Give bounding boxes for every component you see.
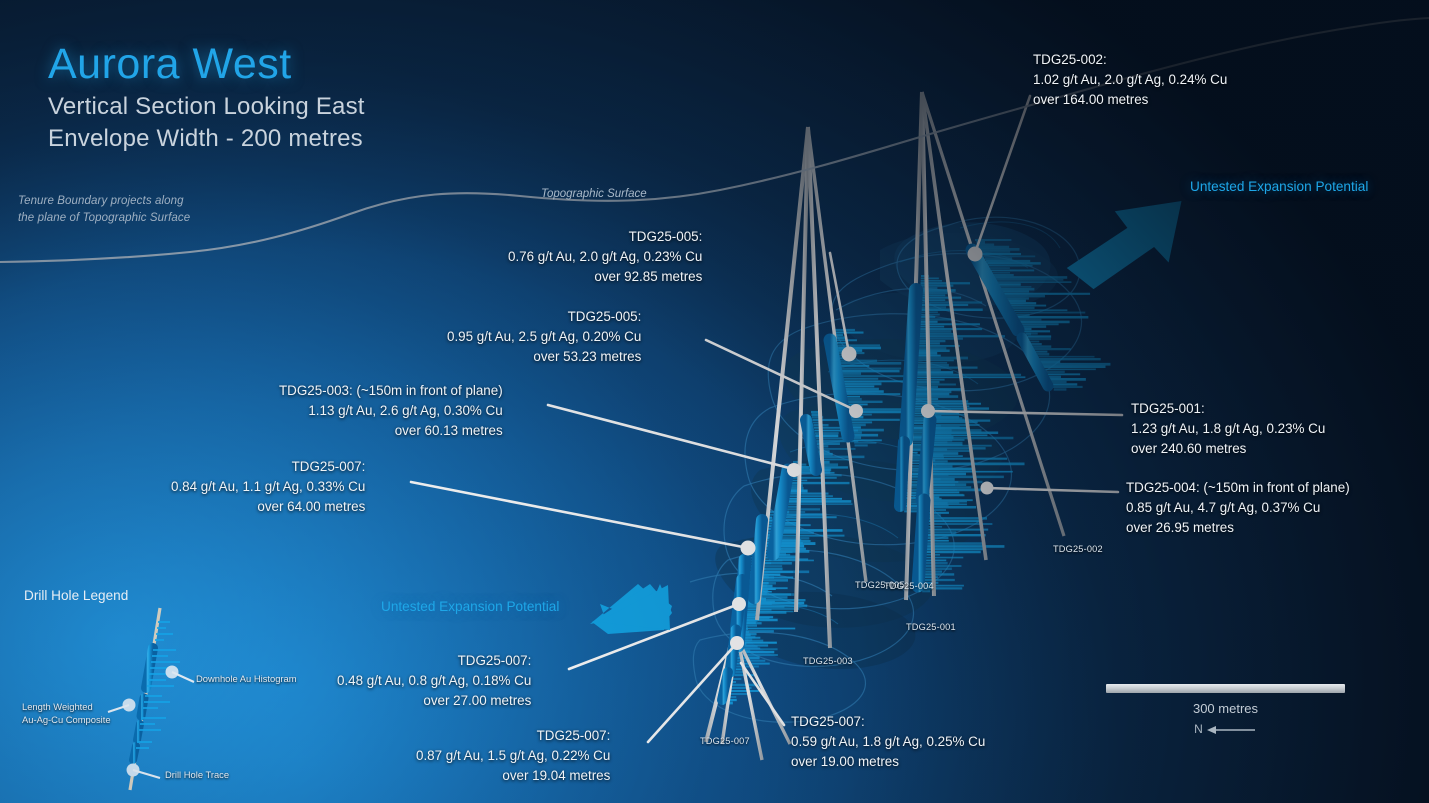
callout-tdg25-004-header: TDG25-004: (~150m in front of plane) <box>1126 478 1350 498</box>
callout-tdg25-007-d: TDG25-007:0.59 g/t Au, 1.8 g/t Ag, 0.25%… <box>791 712 985 772</box>
callout-tdg25-001-grades: 1.23 g/t Au, 1.8 g/t Ag, 0.23% Cu <box>1131 419 1325 439</box>
callout-tdg25-007-a-interval: over 64.00 metres <box>171 497 365 517</box>
tenure-note-line2: the plane of Topographic Surface <box>18 210 190 227</box>
north-indicator: N <box>1106 722 1345 736</box>
callout-tdg25-002-grades: 1.02 g/t Au, 2.0 g/t Ag, 0.24% Cu <box>1033 70 1227 90</box>
callout-tdg25-005-upper-interval: over 92.85 metres <box>508 267 702 287</box>
section-figure: Aurora West Vertical Section Looking Eas… <box>0 0 1429 803</box>
callout-tdg25-003-interval: over 60.13 metres <box>279 421 503 441</box>
callout-tdg25-007-a-grades: 0.84 g/t Au, 1.1 g/t Ag, 0.33% Cu <box>171 477 365 497</box>
north-letter: N <box>1194 722 1203 736</box>
callout-tdg25-007-c-grades: 0.87 g/t Au, 1.5 g/t Ag, 0.22% Cu <box>416 746 610 766</box>
callout-tdg25-004-interval: over 26.95 metres <box>1126 518 1350 538</box>
title-subtitle: Vertical Section Looking East Envelope W… <box>48 91 365 154</box>
callout-tdg25-005-lower-interval: over 53.23 metres <box>447 347 641 367</box>
callout-tdg25-001-interval: over 240.60 metres <box>1131 439 1325 459</box>
hole-tag-tdg25-002: TDG25-002 <box>1053 544 1103 554</box>
legend-label-length-weighted-composite: Length Weighted Au-Ag-Cu Composite <box>22 700 142 726</box>
callout-tdg25-002-interval: over 164.00 metres <box>1033 90 1227 110</box>
callout-tdg25-005-upper: TDG25-005:0.76 g/t Au, 2.0 g/t Ag, 0.23%… <box>508 227 702 287</box>
legend-title: Drill Hole Legend <box>24 588 128 603</box>
tenure-note-line1: Tenure Boundary projects along <box>18 193 190 210</box>
callout-tdg25-002-header: TDG25-002: <box>1033 50 1227 70</box>
callout-tdg25-007-c-interval: over 19.04 metres <box>416 766 610 786</box>
legend-label-downhole-au-histogram: Downhole Au Histogram <box>196 672 297 685</box>
title-sub-line2: Envelope Width - 200 metres <box>48 123 365 155</box>
tenure-boundary-note: Tenure Boundary projects along the plane… <box>18 193 190 226</box>
expansion-label-left: Untested Expansion Potential <box>381 599 559 614</box>
callout-tdg25-007-b-grades: 0.48 g/t Au, 0.8 g/t Ag, 0.18% Cu <box>337 671 531 691</box>
callout-tdg25-005-upper-header: TDG25-005: <box>508 227 702 247</box>
callout-tdg25-007-a: TDG25-007:0.84 g/t Au, 1.1 g/t Ag, 0.33%… <box>171 457 365 517</box>
title-main: Aurora West <box>48 42 365 87</box>
callout-tdg25-003-header: TDG25-003: (~150m in front of plane) <box>279 381 503 401</box>
callout-tdg25-002: TDG25-002:1.02 g/t Au, 2.0 g/t Ag, 0.24%… <box>1033 50 1227 110</box>
north-arrow-icon <box>1205 725 1257 735</box>
callout-tdg25-005-lower-header: TDG25-005: <box>447 307 641 327</box>
scale-distance-label: 300 metres <box>1106 701 1345 716</box>
callout-tdg25-001-header: TDG25-001: <box>1131 399 1325 419</box>
hole-tag-tdg25-001: TDG25-001 <box>906 622 956 632</box>
title-sub-line1: Vertical Section Looking East <box>48 91 365 123</box>
scale-bar <box>1106 684 1345 693</box>
callout-tdg25-003-grades: 1.13 g/t Au, 2.6 g/t Ag, 0.30% Cu <box>279 401 503 421</box>
hole-tag-tdg25-004: TDG25-004 <box>884 581 934 591</box>
page-title: Aurora West Vertical Section Looking Eas… <box>48 42 365 154</box>
callout-tdg25-007-b-header: TDG25-007: <box>337 651 531 671</box>
legend-label-drill-hole-trace: Drill Hole Trace <box>165 768 229 781</box>
legend-composite-line1: Length Weighted <box>22 700 142 713</box>
callout-tdg25-001: TDG25-001:1.23 g/t Au, 1.8 g/t Ag, 0.23%… <box>1131 399 1325 459</box>
callout-tdg25-007-c: TDG25-007:0.87 g/t Au, 1.5 g/t Ag, 0.22%… <box>416 726 610 786</box>
expansion-label-right: Untested Expansion Potential <box>1190 179 1368 194</box>
callout-tdg25-007-d-interval: over 19.00 metres <box>791 752 985 772</box>
callout-tdg25-005-upper-grades: 0.76 g/t Au, 2.0 g/t Ag, 0.23% Cu <box>508 247 702 267</box>
callout-tdg25-004-grades: 0.85 g/t Au, 4.7 g/t Ag, 0.37% Cu <box>1126 498 1350 518</box>
hole-tag-tdg25-003: TDG25-003 <box>803 656 853 666</box>
legend-composite-line2: Au-Ag-Cu Composite <box>22 713 142 726</box>
callout-tdg25-007-b-interval: over 27.00 metres <box>337 691 531 711</box>
callout-tdg25-003: TDG25-003: (~150m in front of plane)1.13… <box>279 381 503 441</box>
hole-tag-tdg25-007: TDG25-007 <box>700 736 750 746</box>
callout-tdg25-007-d-grades: 0.59 g/t Au, 1.8 g/t Ag, 0.25% Cu <box>791 732 985 752</box>
callout-tdg25-004: TDG25-004: (~150m in front of plane)0.85… <box>1126 478 1350 538</box>
callout-tdg25-005-lower-grades: 0.95 g/t Au, 2.5 g/t Ag, 0.20% Cu <box>447 327 641 347</box>
callout-tdg25-005-lower: TDG25-005:0.95 g/t Au, 2.5 g/t Ag, 0.20%… <box>447 307 641 367</box>
topographic-surface-label: Topographic Surface <box>541 188 647 200</box>
callout-tdg25-007-a-header: TDG25-007: <box>171 457 365 477</box>
callout-tdg25-007-c-header: TDG25-007: <box>416 726 610 746</box>
legend-drillhole <box>108 608 194 790</box>
callout-tdg25-007-d-header: TDG25-007: <box>791 712 985 732</box>
callout-tdg25-007-b: TDG25-007:0.48 g/t Au, 0.8 g/t Ag, 0.18%… <box>337 651 531 711</box>
